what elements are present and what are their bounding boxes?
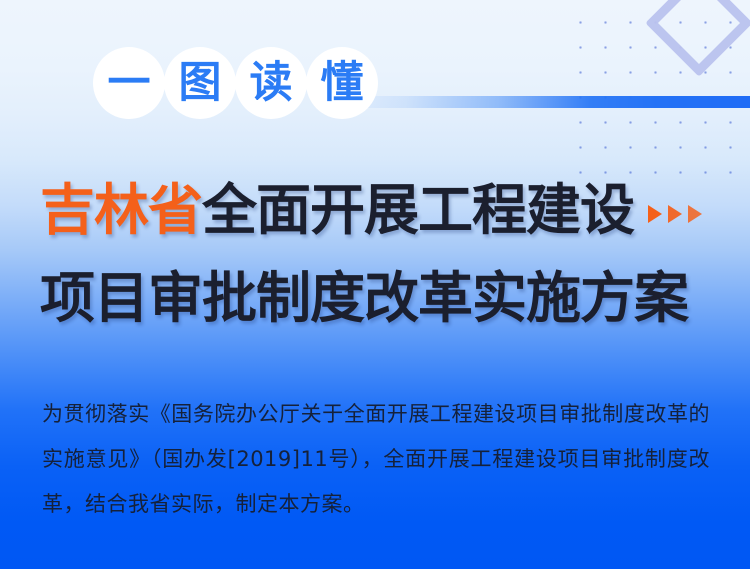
badge-char-2: 图 xyxy=(164,47,236,119)
badge-char-1: 一 xyxy=(93,47,165,119)
diamond-outline-icon xyxy=(645,0,750,77)
headline-highlight: 吉林省 xyxy=(40,178,202,242)
badge-char-3: 读 xyxy=(235,47,307,119)
body-paragraph: 为贯彻落实《国务院办公厅关于全面开展工程建设项目审批制度改革的实施意见》（国办发… xyxy=(42,392,710,527)
arrow-triangles-icon xyxy=(648,162,708,246)
badge-gradient-bar xyxy=(330,96,750,108)
headline-line-1-rest: 全面开展工程建设 xyxy=(202,178,634,242)
badge-yitududong: 一 图 读 懂 xyxy=(93,47,369,119)
page-title: 吉林省全面开展工程建设 项目审批制度改革实施方案 xyxy=(40,168,740,340)
body-paragraph-text: 为贯彻落实《国务院办公厅关于全面开展工程建设项目审批制度改革的实施意见》（国办发… xyxy=(42,392,710,527)
headline-line-1: 吉林省全面开展工程建设 xyxy=(40,168,740,256)
dot-grid-pattern xyxy=(560,0,750,185)
badge-char-4: 懂 xyxy=(306,47,378,119)
infographic-poster: 一 图 读 懂 吉林省全面开展工程建设 项目审批制度改革实施方案 为贯彻落实《国… xyxy=(0,0,750,569)
headline-line-2: 项目审批制度改革实施方案 xyxy=(40,256,740,340)
